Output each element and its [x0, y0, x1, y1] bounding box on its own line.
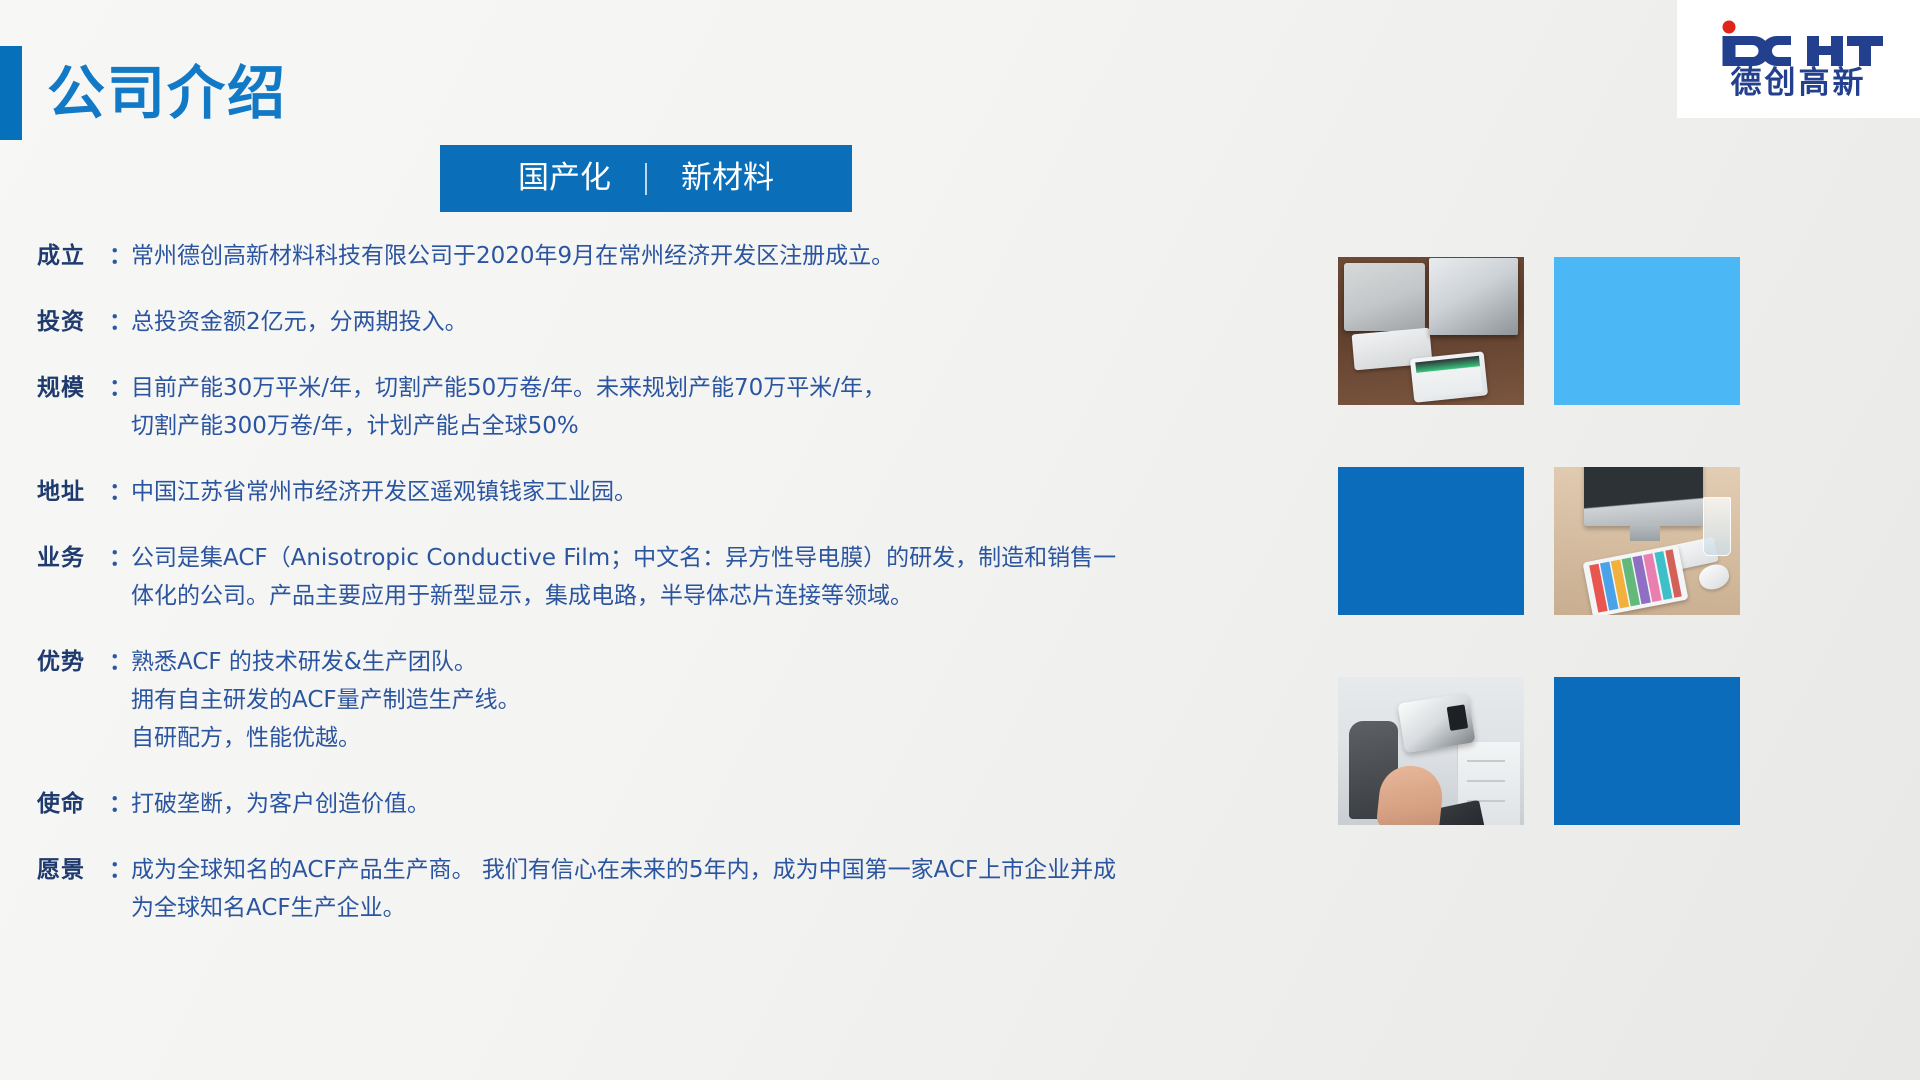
info-row-label: 投资	[37, 303, 109, 341]
info-row-colon: ：	[109, 785, 131, 823]
logo-wordmark-dcht	[1715, 20, 1883, 66]
slide-root: { "slide": { "title": "公司介绍", "accent_ba…	[0, 0, 1920, 1080]
water-glass-shape	[1703, 497, 1731, 556]
info-row-text: 熟悉ACF 的技术研发&生产团队。拥有自主研发的ACF量产制造生产线。自研配方，…	[131, 643, 1322, 757]
clinic-lamp-hand-photo	[1338, 677, 1524, 825]
info-row: 成立：常州德创高新材料科技有限公司于2020年9月在常州经济开发区注册成立。	[37, 237, 1322, 275]
info-row-text: 总投资金额2亿元，分两期投入。	[131, 303, 1322, 341]
logo-chinese-name: 德创高新	[1731, 68, 1867, 99]
tagline-left: 国产化	[518, 163, 611, 194]
mouse-shape	[1696, 561, 1732, 593]
tablet-shape	[1410, 351, 1489, 403]
info-row-colon: ：	[109, 473, 131, 511]
info-row-text: 常州德创高新材料科技有限公司于2020年9月在常州经济开发区注册成立。	[131, 237, 1322, 275]
info-row-text: 目前产能30万平米/年，切割产能50万卷/年。未来规划产能70万平米/年，切割产…	[131, 369, 1322, 445]
info-row-colon: ：	[109, 369, 131, 407]
info-row-line: 目前产能30万平米/年，切割产能50万卷/年。未来规划产能70万平米/年，	[131, 369, 1322, 407]
info-row: 愿景：成为全球知名的ACF产品生产商。 我们有信心在未来的5年内，成为中国第一家…	[37, 851, 1322, 927]
monitor-stand-shape	[1630, 523, 1660, 541]
tablet-shape	[1583, 544, 1689, 615]
info-row-colon: ：	[109, 851, 131, 889]
info-row-line: 为全球知名ACF生产企业。	[131, 889, 1322, 927]
info-row-line: 体化的公司。产品主要应用于新型显示，集成电路，半导体芯片连接等领域。	[131, 577, 1322, 615]
desk-imac-laptop-tablet-photo	[1338, 257, 1524, 405]
info-row-line: 公司是集ACF（Anisotropic Conductive Film；中文名：…	[131, 539, 1322, 577]
info-row: 规模：目前产能30万平米/年，切割产能50万卷/年。未来规划产能70万平米/年，…	[37, 369, 1322, 445]
info-row-colon: ：	[109, 237, 131, 275]
info-row-label: 使命	[37, 785, 109, 823]
info-row-line: 中国江苏省常州市经济开发区遥观镇钱家工业园。	[131, 473, 1322, 511]
company-info-list: 成立：常州德创高新材料科技有限公司于2020年9月在常州经济开发区注册成立。投资…	[37, 237, 1322, 955]
dark-blue-swatch	[1554, 677, 1740, 825]
info-row-text: 中国江苏省常州市经济开发区遥观镇钱家工业园。	[131, 473, 1322, 511]
info-row-line: 成为全球知名的ACF产品生产商。 我们有信心在未来的5年内，成为中国第一家ACF…	[131, 851, 1322, 889]
info-row: 优势：熟悉ACF 的技术研发&生产团队。拥有自主研发的ACF量产制造生产线。自研…	[37, 643, 1322, 757]
info-row-colon: ：	[109, 303, 131, 341]
desk-imac-tablet-mouse-photo	[1554, 467, 1740, 615]
info-row: 业务：公司是集ACF（Anisotropic Conductive Film；中…	[37, 539, 1322, 615]
tagline-banner: 国产化 新材料	[440, 145, 852, 212]
info-row-label: 成立	[37, 237, 109, 275]
info-row-text: 成为全球知名的ACF产品生产商。 我们有信心在未来的5年内，成为中国第一家ACF…	[131, 851, 1322, 927]
info-row-text: 打破垄断，为客户创造价值。	[131, 785, 1322, 823]
page-title: 公司介绍	[47, 64, 287, 122]
info-row-line: 总投资金额2亿元，分两期投入。	[131, 303, 1322, 341]
info-row: 使命：打破垄断，为客户创造价值。	[37, 785, 1322, 823]
info-row-text: 公司是集ACF（Anisotropic Conductive Film；中文名：…	[131, 539, 1322, 615]
info-row-colon: ：	[109, 539, 131, 577]
tagline-divider-icon	[645, 163, 647, 195]
page-title-group: 公司介绍	[0, 46, 287, 140]
info-row-line: 自研配方，性能优越。	[131, 719, 1322, 757]
info-row-line: 拥有自主研发的ACF量产制造生产线。	[131, 681, 1322, 719]
info-row-label: 业务	[37, 539, 109, 577]
dark-blue-swatch	[1338, 467, 1524, 615]
brand-logo: 德创高新	[1677, 0, 1920, 118]
info-row-line: 常州德创高新材料科技有限公司于2020年9月在常州经济开发区注册成立。	[131, 237, 1322, 275]
info-row: 地址：中国江苏省常州市经济开发区遥观镇钱家工业园。	[37, 473, 1322, 511]
info-row-label: 愿景	[37, 851, 109, 889]
info-row-label: 规模	[37, 369, 109, 407]
info-row-label: 优势	[37, 643, 109, 681]
info-row: 投资：总投资金额2亿元，分两期投入。	[37, 303, 1322, 341]
title-accent-bar	[0, 46, 22, 140]
info-row-line: 熟悉ACF 的技术研发&生产团队。	[131, 643, 1322, 681]
image-grid	[1338, 257, 1740, 825]
info-row-line: 切割产能300万卷/年，计划产能占全球50%	[131, 407, 1322, 445]
tagline-right: 新材料	[681, 163, 774, 194]
info-row-colon: ：	[109, 643, 131, 681]
light-blue-swatch	[1554, 257, 1740, 405]
info-row-label: 地址	[37, 473, 109, 511]
logo-red-dot-icon	[1722, 20, 1735, 33]
info-row-line: 打破垄断，为客户创造价值。	[131, 785, 1322, 823]
